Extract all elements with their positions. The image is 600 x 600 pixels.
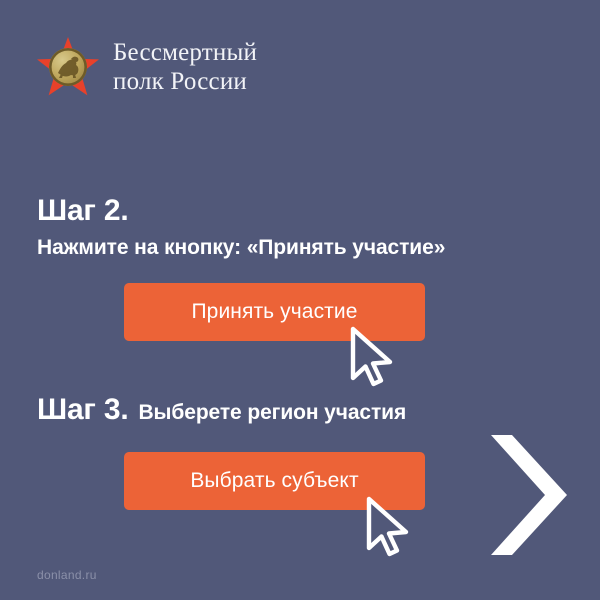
slide-canvas: Бессмертный полк России Шаг 2. Нажмите н… <box>0 0 600 600</box>
step-3-heading: Шаг 3. <box>37 395 128 425</box>
immortal-regiment-star-logo-icon <box>37 36 99 98</box>
step-2-subtitle: Нажмите на кнопку: «Принять участие» <box>37 236 445 260</box>
participate-button[interactable]: Принять участие <box>124 283 425 341</box>
step-2-heading: Шаг 2. <box>37 196 128 226</box>
brand-logo: Бессмертный полк России <box>37 36 257 98</box>
horseman-emblem-icon <box>49 48 87 86</box>
step-3-subtitle: Выберете регион участия <box>138 401 406 425</box>
brand-logo-title: Бессмертный полк России <box>113 38 257 96</box>
chevron-right-icon[interactable] <box>489 431 569 559</box>
select-subject-button[interactable]: Выбрать субъект <box>124 452 425 510</box>
watermark-source: donland.ru <box>37 568 97 582</box>
step-3-title-row: Шаг 3. Выберете регион участия <box>37 395 406 425</box>
